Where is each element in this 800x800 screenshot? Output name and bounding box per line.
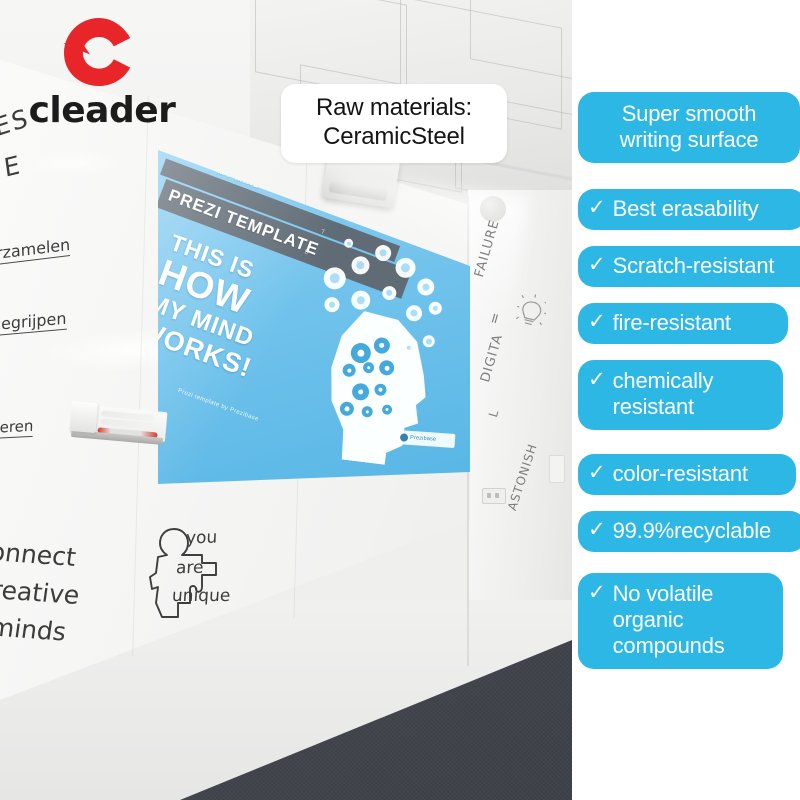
feature-badge-3[interactable]: ✓ fire-resistant bbox=[578, 303, 788, 344]
feature-badge-5[interactable]: ✓ color-resistant bbox=[578, 454, 796, 495]
whiteboard-doodle-text: you bbox=[186, 527, 218, 548]
wall-plate bbox=[549, 455, 565, 483]
feature-badge-1[interactable]: ✓ Best erasability bbox=[578, 189, 800, 230]
feature-badge-6[interactable]: ✓ 99.9%recyclable bbox=[578, 511, 800, 552]
check-icon: ✓ bbox=[588, 461, 606, 486]
check-icon: ✓ bbox=[588, 518, 606, 543]
check-icon: ✓ bbox=[588, 196, 606, 221]
check-icon: ✓ bbox=[588, 581, 606, 606]
callout-line-1: Raw materials: bbox=[291, 93, 497, 122]
cleader-c-logo-icon bbox=[60, 16, 138, 88]
feature-badge-label: Super smooth writing surface bbox=[590, 101, 788, 153]
ceiling-sensor-icon bbox=[480, 196, 506, 222]
check-icon: ✓ bbox=[588, 310, 606, 335]
feature-badge-0[interactable]: Super smooth writing surface bbox=[578, 92, 800, 163]
brand-logo: cleader bbox=[12, 16, 192, 126]
screenshot-root: "MY MIND" PREZI TEMPLATE THIS IS HOW MY … bbox=[0, 0, 800, 800]
feature-badge-label: fire-resistant bbox=[613, 310, 731, 336]
whiteboard-eraser bbox=[69, 401, 98, 433]
check-icon: ✓ bbox=[588, 253, 606, 278]
whiteboard-slogan: minds bbox=[0, 612, 68, 646]
feature-badge-7[interactable]: ✓ No volatile organic compounds bbox=[578, 573, 783, 669]
whiteboard-doodle-text: are bbox=[175, 558, 204, 579]
feature-badge-label: No volatile organic compounds bbox=[613, 581, 725, 659]
feature-badge-label: 99.9%recyclable bbox=[613, 518, 771, 544]
check-icon: ✓ bbox=[588, 368, 606, 393]
whiteboard-doodle-text: unique bbox=[171, 586, 231, 606]
whiteboard-slogan: onnect bbox=[0, 537, 78, 572]
callout-line-2: CeramicSteel bbox=[291, 122, 497, 151]
feature-badge-label: chemically resistant bbox=[613, 368, 714, 420]
whiteboard-note-text: ineren bbox=[0, 417, 34, 440]
whiteboard-note: Begrijpen bbox=[0, 309, 66, 335]
lightbulb-doodle-icon bbox=[516, 294, 546, 332]
raw-materials-callout: Raw materials: CeramicSteel bbox=[281, 84, 507, 163]
feature-badge-label: Scratch-resistant bbox=[613, 253, 775, 279]
whiteboard-note: ineren bbox=[0, 417, 34, 438]
whiteboard-slogan: reative bbox=[0, 575, 81, 610]
feature-badge-4[interactable]: ✓ chemically resistant bbox=[578, 360, 783, 430]
brand-name: cleader bbox=[12, 90, 192, 131]
feature-badge-label: color-resistant bbox=[613, 461, 748, 487]
wall-socket-icon bbox=[482, 488, 506, 504]
feature-badge-list: Super smooth writing surface ✓ Best eras… bbox=[578, 0, 800, 800]
feature-badge-label: Best erasability bbox=[613, 196, 759, 222]
whiteboard-glare bbox=[10, 150, 130, 176]
feature-badge-2[interactable]: ✓ Scratch-resistant bbox=[578, 246, 800, 287]
